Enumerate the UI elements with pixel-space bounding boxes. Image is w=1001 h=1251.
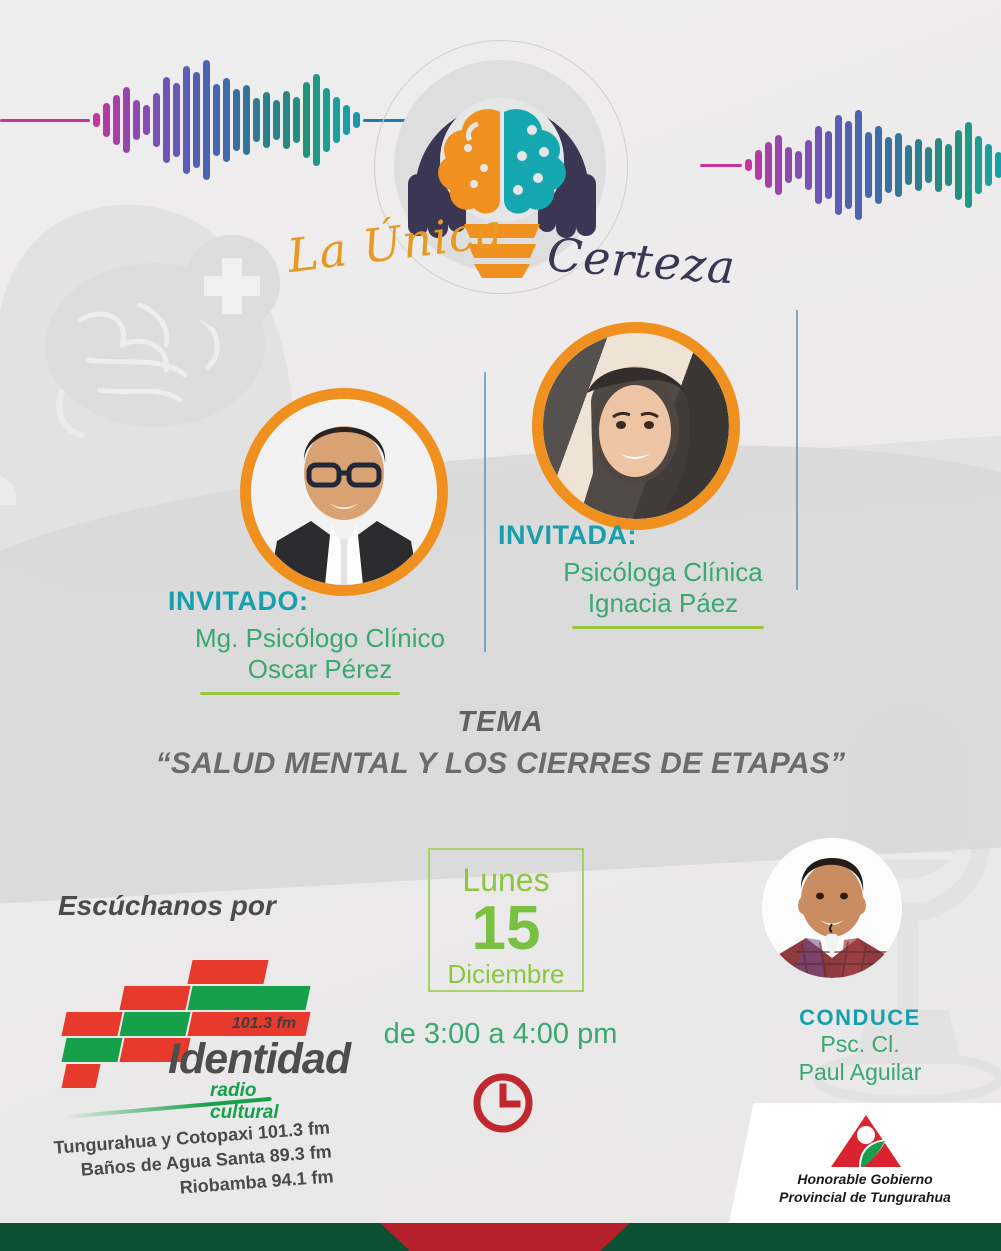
host-name: Paul Aguilar — [740, 1059, 980, 1087]
guest-name-invitada: Ignacia Páez — [498, 588, 828, 619]
guest-block-invitada: INVITADA: Psicóloga Clínica Ignacia Páez — [498, 520, 828, 629]
government-badge: Honorable Gobierno Provincial de Tungura… — [729, 1103, 1001, 1223]
guest-title-invitada: Psicóloga Clínica — [498, 557, 828, 588]
guest-name-invitado: Oscar Pérez — [150, 654, 490, 685]
host-photo — [762, 838, 902, 978]
topic-heading: TEMA — [0, 706, 1001, 739]
clock-icon — [472, 1072, 534, 1134]
waveform-right — [700, 110, 1001, 220]
guest-block-invitado: INVITADO: Mg. Psicólogo Clínico Oscar Pé… — [150, 586, 490, 695]
frequency-list: Tungurahua y Cotopaxi 101.3 fm Baños de … — [40, 1115, 335, 1209]
schedule-weekday: Lunes — [430, 850, 582, 896]
guest-photo-invitada — [532, 322, 740, 530]
government-line-2: Provincial de Tungurahua — [729, 1189, 1001, 1207]
host-block: CONDUCE Psc. Cl. Paul Aguilar — [740, 1005, 980, 1086]
program-logo: La Única Certeza — [362, 38, 642, 303]
triangle-leaf-emblem-icon — [829, 1113, 903, 1169]
underline-invitado — [200, 692, 400, 695]
script-certeza: Certeza — [545, 227, 737, 294]
host-title: Psc. Cl. — [740, 1031, 980, 1059]
guest-label-invitado: INVITADO: — [168, 586, 490, 617]
guest-photo-invitado — [240, 388, 448, 596]
schedule-day-number: 15 — [430, 896, 582, 961]
government-name: Honorable Gobierno Provincial de Tungura… — [729, 1171, 1001, 1206]
topic-title: “SALUD MENTAL Y LOS CIERRES DE ETAPAS” — [0, 747, 1001, 781]
schedule-month: Diciembre — [430, 961, 582, 987]
guest-label-invitada: INVITADA: — [498, 520, 828, 551]
host-label: CONDUCE — [740, 1005, 980, 1031]
guest-title-invitado: Mg. Psicólogo Clínico — [150, 623, 490, 654]
underline-invitada — [572, 626, 764, 629]
poster-canvas: La Única Certeza INVITADA: Psicóloga Clí… — [0, 0, 1001, 1251]
listen-cta: Escúchanos por — [58, 890, 276, 922]
topic-block: TEMA “SALUD MENTAL Y LOS CIERRES DE ETAP… — [0, 706, 1001, 781]
date-card: Lunes 15 Diciembre — [428, 848, 584, 992]
bottom-bar-accent — [380, 1223, 630, 1251]
government-line-1: Honorable Gobierno — [729, 1171, 1001, 1189]
